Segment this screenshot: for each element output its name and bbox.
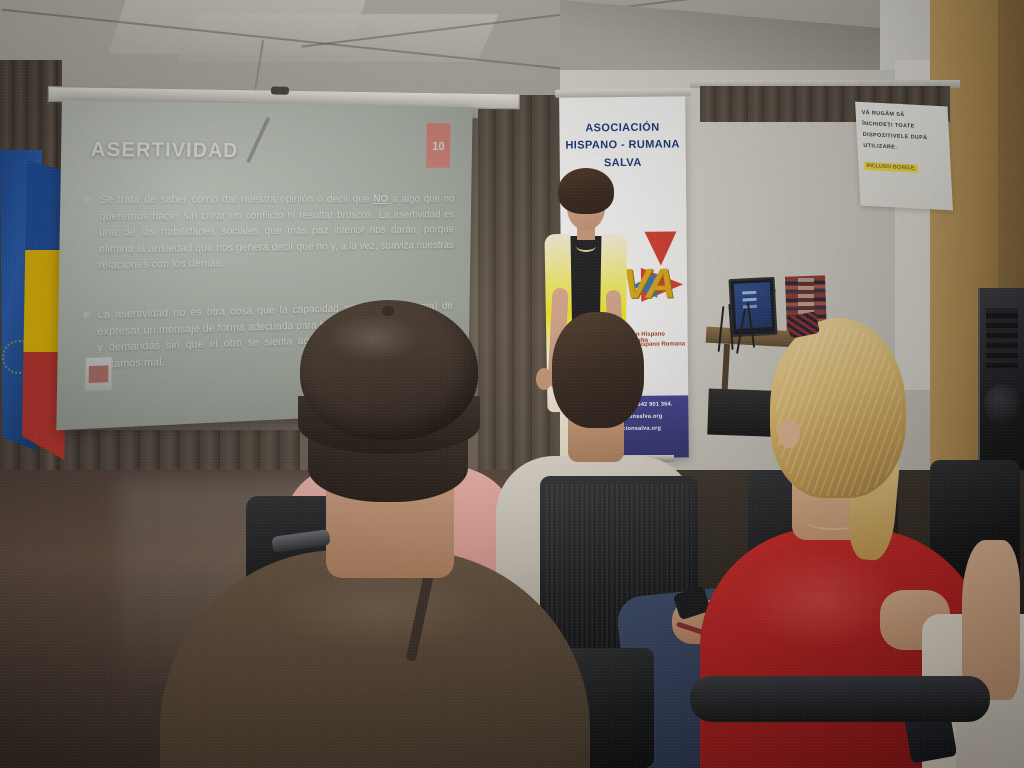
ear — [778, 418, 800, 448]
slide-institution-logo — [85, 356, 113, 391]
audience-person-black-cap — [150, 300, 600, 768]
notice-highlight: INCLUSIV BOXELE. — [864, 162, 918, 173]
banner-top-bar — [555, 88, 691, 97]
chair — [690, 676, 990, 768]
cap-highlight — [328, 314, 418, 362]
ceiling-tile — [177, 14, 498, 62]
bullet-marker-icon — [86, 195, 93, 203]
roller-knob — [271, 87, 289, 95]
chair-armrest — [690, 676, 990, 722]
cap-button — [382, 306, 394, 316]
slide-page-badge: 10 — [426, 123, 450, 168]
notice-line-2: ÎNCHIDEȚI TOATE — [862, 121, 943, 132]
hair-strands — [776, 326, 902, 496]
banner-line-2: HISPANO - RUMANA — [560, 138, 686, 151]
notice-line-4: UTILIZARE. — [863, 143, 944, 154]
bullet-1-pre: Se trata de saber cómo dar nuestra opini… — [99, 194, 373, 206]
shirt-highlight — [740, 550, 900, 650]
presenter-necklace — [576, 240, 596, 252]
slide-title: ASERTIVIDAD — [90, 138, 238, 163]
bullet-1-emphasis: NO — [373, 194, 388, 205]
presenter-hair — [558, 168, 614, 214]
notice-line-3: DISPOZITIVELE DUPĂ — [863, 132, 944, 143]
photo-scene: ASERTIVIDAD 10 Se trata de saber cómo da… — [0, 0, 1024, 768]
banner-line-1: ASOCIACIÓN — [559, 121, 685, 134]
bullet-marker-icon — [84, 310, 91, 318]
slide-bullet-1: Se trata de saber cómo dar nuestra opini… — [98, 192, 454, 274]
screen-streak — [246, 117, 270, 164]
shoulder-highlight — [270, 570, 490, 650]
notice-line-1: VĂ RUGĂM SĂ — [862, 110, 943, 121]
wall-notice-sign: VĂ RUGĂM SĂ ÎNCHIDEȚI TOATE DISPOZITIVEL… — [855, 102, 953, 211]
